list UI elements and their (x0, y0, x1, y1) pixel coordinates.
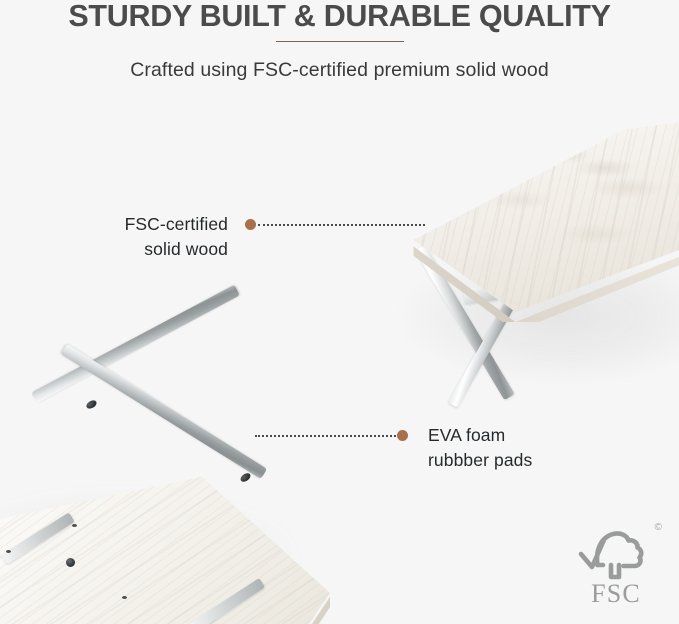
callout-marker-dot-fsc-certified-solid-wood (245, 219, 256, 230)
fsc-logo: © FSC (567, 521, 665, 613)
product-image-table (392, 112, 679, 412)
callout-line-2: rubbber pads (428, 448, 668, 473)
callout-leader-line-fsc-certified-solid-wood (258, 224, 425, 226)
bench-bracket-bolt (66, 558, 75, 567)
bench-slab-screw-hole (122, 596, 127, 599)
callout-line-1: EVA foam (428, 423, 668, 448)
callout-label-eva-foam-rubbber-pads: EVA foam rubbber pads (428, 423, 668, 473)
title-divider (276, 41, 404, 42)
callout-marker-dot-eva-foam-rubbber-pads (397, 430, 408, 441)
fsc-wordmark: FSC (567, 580, 665, 608)
bench-slab-screw-hole (6, 550, 11, 553)
fsc-tree-checkmark-icon (567, 521, 665, 583)
page-title: STURDY BUILT & DURABLE QUALITY (0, 0, 679, 33)
callout-line-2: solid wood (0, 237, 228, 262)
callout-label-fsc-certified-solid-wood: FSC-certified solid wood (0, 212, 228, 262)
bench-slab-screw-hole (72, 524, 77, 527)
registered-mark: © (655, 522, 662, 533)
infographic-canvas: STURDY BUILT & DURABLE QUALITY Crafted u… (0, 0, 679, 624)
bench-leg-rubber-pad (239, 472, 252, 484)
bench-leg-rubber-pad (85, 399, 98, 411)
callout-line-1: FSC-certified (0, 212, 228, 237)
bench-leg-stroke-right (61, 344, 267, 479)
bench-leg-stroke-left (31, 285, 240, 404)
product-image-bench (0, 378, 340, 624)
page-subtitle: Crafted using FSC-certified premium soli… (0, 57, 679, 83)
callout-leader-line-eva-foam-rubbber-pads (255, 435, 396, 437)
